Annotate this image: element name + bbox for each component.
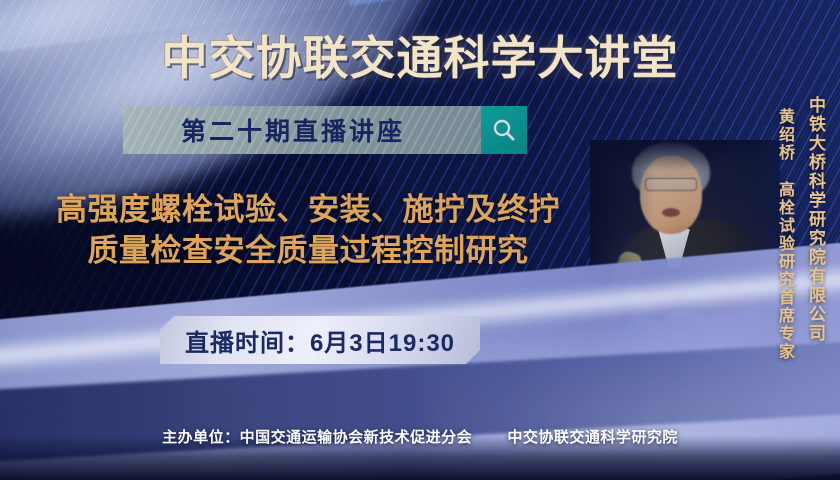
lecture-title-line2: 质量检查安全质量过程控制研究 [8,231,608,272]
session-label: 第二十期直播讲座 [181,112,405,148]
footer-organizer: 主办单位：中国交通运输协会新技术促进分会 [162,429,472,446]
search-button[interactable] [481,106,527,154]
page-title: 中交协联交通科学大讲堂 [0,22,840,88]
broadcast-time-badge: 直播时间：6月3日19:30 [160,316,480,364]
lecture-title: 高强度螺栓试验、安装、施拧及终拧 质量检查安全质量过程控制研究 [8,190,608,272]
session-banner-bar: 第二十期直播讲座 [123,106,481,154]
footer: 主办单位：中国交通运输协会新技术促进分会 中交协联交通科学研究院 [0,426,840,447]
broadcast-time-text: 直播时间：6月3日19:30 [185,323,455,358]
speaker-name-role: 黄绍桥 高栓试验研究首席专家 [772,108,796,361]
speaker-organization: 中铁大桥科学研究院有限公司 [803,96,828,343]
livestream-poster: 中交协联交通科学大讲堂 第二十期直播讲座 高强度螺栓试验、安装、施拧及终拧 质量… [0,0,840,480]
lecture-title-line1: 高强度螺栓试验、安装、施拧及终拧 [56,192,560,227]
footer-institute: 中交协联交通科学研究院 [507,429,678,446]
session-banner: 第二十期直播讲座 [123,106,527,154]
search-icon [491,117,517,143]
